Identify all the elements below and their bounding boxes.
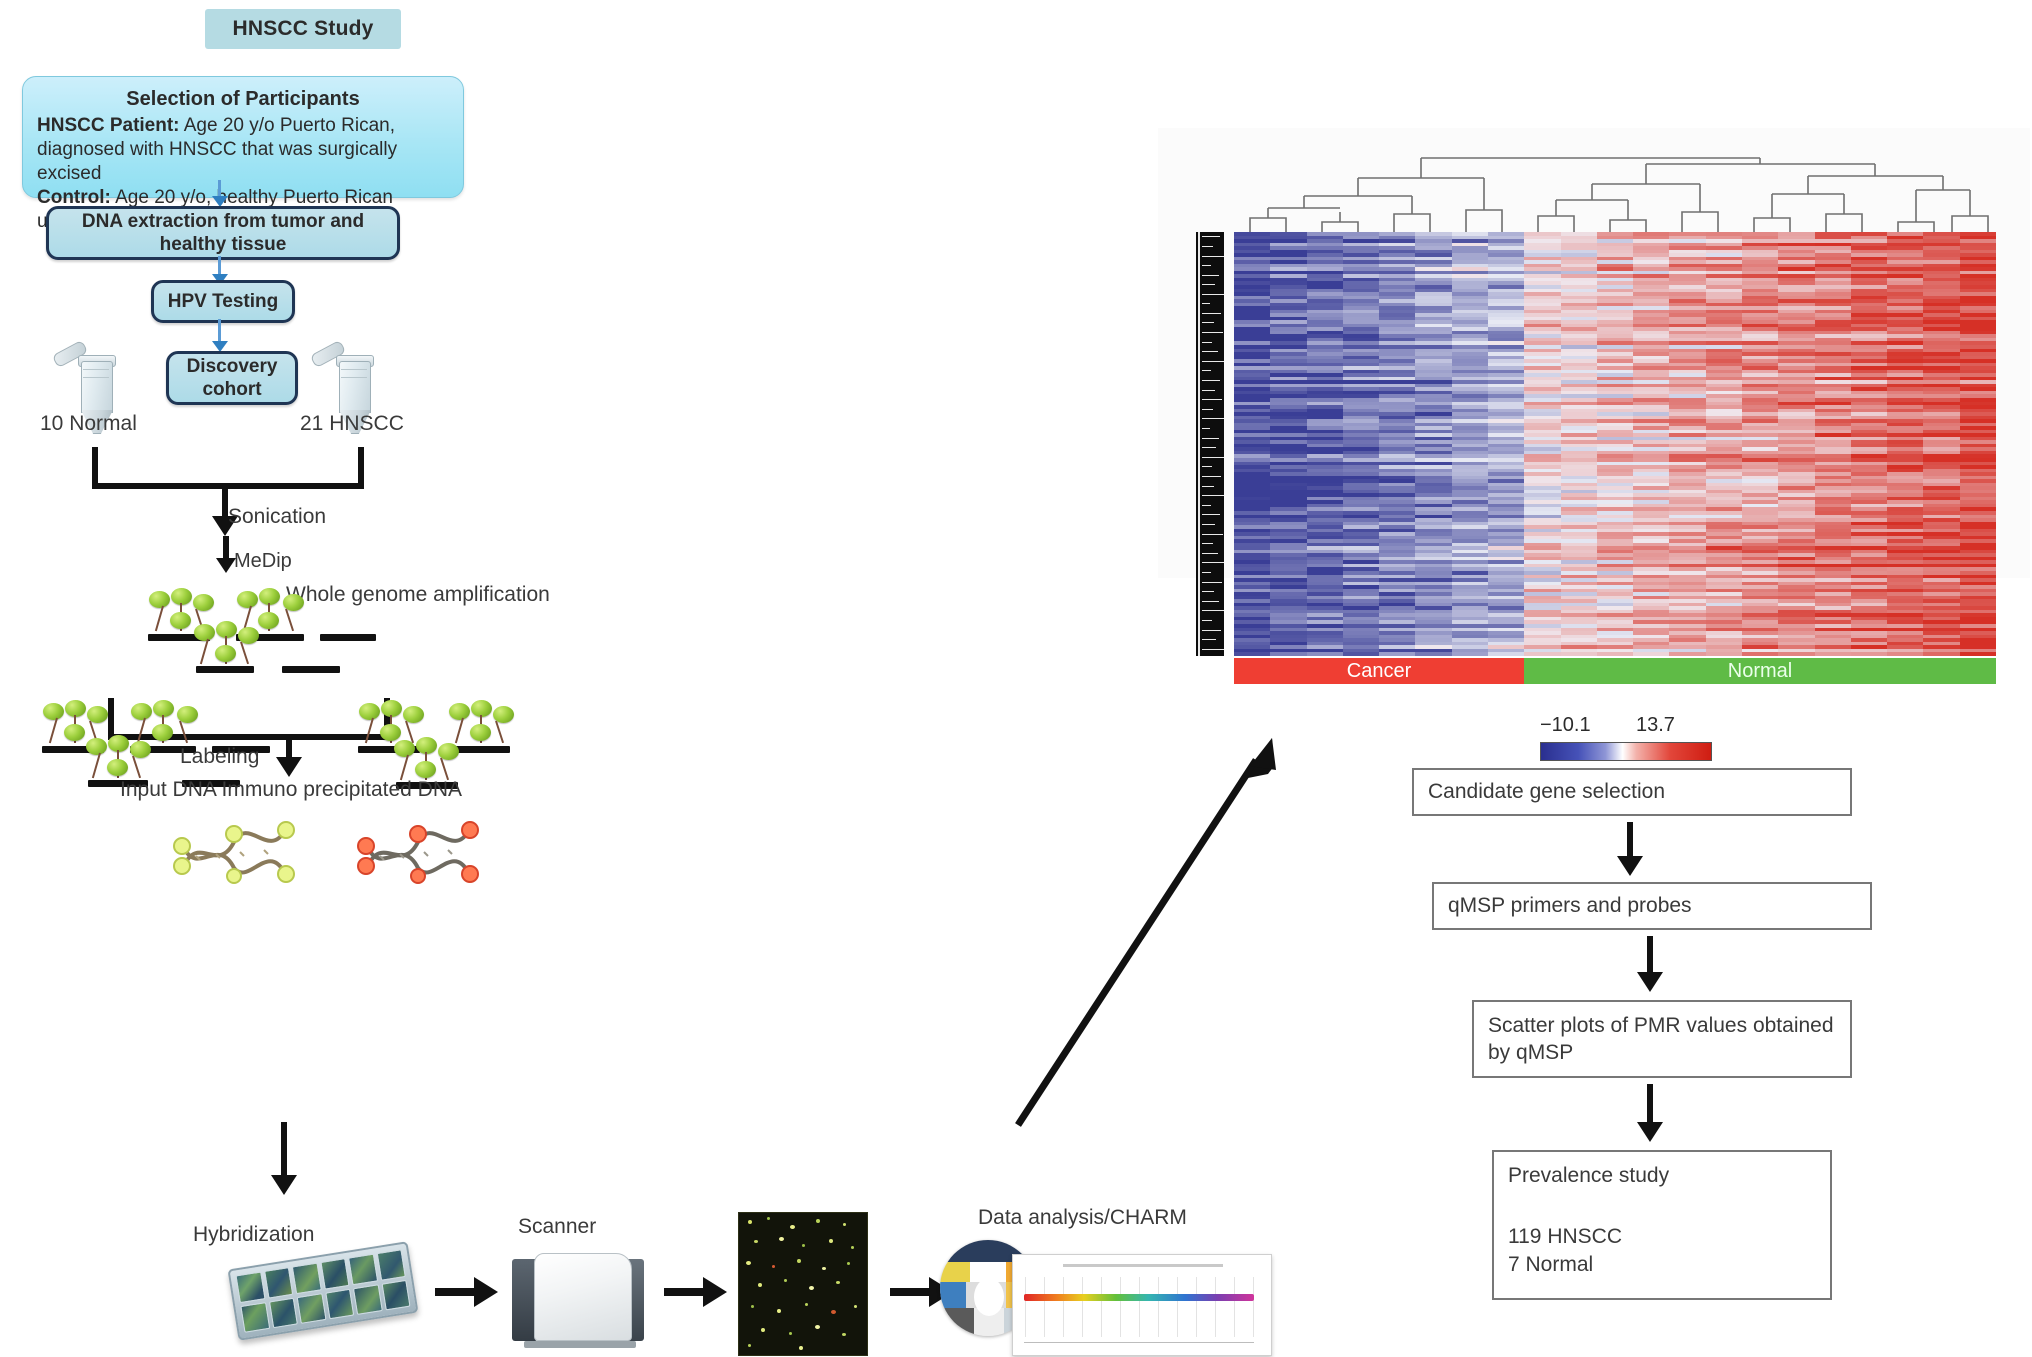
heatmap-column (1923, 232, 1959, 656)
step-hpv-testing: HPV Testing (151, 280, 295, 323)
column-dendrogram (1240, 134, 2000, 234)
heatmap-column (1960, 232, 1996, 656)
group-bar-normal-label: Normal (1728, 660, 1792, 683)
methylated-dna-cluster-top (140, 588, 440, 668)
microarray-image (738, 1212, 868, 1356)
group-bar-cancer: Cancer (1234, 658, 1524, 684)
heatmap-column (1561, 232, 1597, 656)
scale-max-label: 13.7 (1636, 714, 1675, 737)
input-dna-label: Input DNA Immuno precipitated DNA (120, 778, 462, 802)
heatmap-column (1452, 232, 1488, 656)
heatmap-column (1415, 232, 1451, 656)
hybridization-label: Hybridization (193, 1223, 314, 1247)
arrow-to-heatmap (1000, 720, 1340, 1140)
arrow-qmsp-to-scatter-head (1637, 972, 1663, 992)
box-candidate-gene-selection: Candidate gene selection (1412, 768, 1852, 816)
group-bar-cancer-label: Cancer (1347, 660, 1411, 683)
scale-min-label: −10.1 (1540, 714, 1591, 737)
selection-line-1-bold: HNSCC Patient: (37, 115, 180, 136)
arrow-array-to-charm-shaft (890, 1288, 932, 1296)
arrow-scatter-to-prevalence-head (1637, 1122, 1663, 1142)
arrow-scanner-to-array-head (703, 1277, 727, 1307)
box-scatter-plots: Scatter plots of PMR values obtained by … (1472, 1000, 1852, 1078)
heatmap-column (1379, 232, 1415, 656)
prevalence-study-line-1: 119 HNSCC (1508, 1223, 1816, 1250)
heatmap-matrix (1234, 232, 1996, 656)
selection-line-3-bold: Control: (37, 187, 111, 208)
heatmap-column (1887, 232, 1923, 656)
step-discovery-cohort: Discovery cohort (166, 351, 298, 405)
heatmap-column (1234, 232, 1270, 656)
heatmap-column (1851, 232, 1887, 656)
selection-line-3-rest: Age 20 y/o, healthy Puerto Rican (115, 187, 393, 208)
hybridization-chip-icon (227, 1241, 418, 1341)
box-qmsp-primers: qMSP primers and probes (1432, 882, 1872, 930)
arrow-candidate-to-qmsp-head (1617, 856, 1643, 876)
charm-rainbow-trace (1024, 1294, 1254, 1301)
selection-of-participants-box: Selection of Participants HNSCC Patient:… (22, 76, 464, 198)
heatmap-column (1815, 232, 1851, 656)
box-candidate-gene-selection-label: Candidate gene selection (1428, 778, 1665, 805)
heatmap-column (1597, 232, 1633, 656)
tube-normal-label: 10 Normal (40, 412, 137, 436)
scanner-label: Scanner (518, 1215, 596, 1239)
step-hpv-testing-label: HPV Testing (168, 290, 279, 313)
heatmap-column (1488, 232, 1524, 656)
heatmap-column (1706, 232, 1742, 656)
heatmap-column (1778, 232, 1814, 656)
data-analysis-label: Data analysis/CHARM (978, 1206, 1187, 1230)
prevalence-study-title: Prevalence study (1508, 1162, 1816, 1189)
hybridization-arrow-head (271, 1175, 297, 1195)
heatmap-column (1307, 232, 1343, 656)
step-dna-extraction-label: DNA extraction from tumor and healthy ti… (49, 210, 397, 256)
arrow-chip-to-scanner-shaft (435, 1288, 477, 1296)
heatmap-column (1270, 232, 1306, 656)
arrow-chip-to-scanner-head (474, 1277, 498, 1307)
step-dna-extraction: DNA extraction from tumor and healthy ti… (46, 206, 400, 260)
box-qmsp-primers-label: qMSP primers and probes (1448, 892, 1692, 919)
box-prevalence-study: Prevalence study 119 HNSCC 7 Normal (1492, 1150, 1832, 1300)
page-title: HNSCC Study (205, 9, 401, 49)
heatmap-column (1669, 232, 1705, 656)
labeled-dna-green-icon (168, 816, 298, 886)
heatmap-color-scale (1540, 742, 1712, 761)
heatmap-column (1742, 232, 1778, 656)
tube-hnscc-label: 21 HNSCC (300, 412, 404, 436)
sonication-label: Sonication (228, 505, 326, 529)
bracket-crossbar (92, 483, 364, 489)
selection-line-2: diagnosed with HNSCC that was surgically… (37, 138, 449, 186)
scanner-icon (512, 1245, 652, 1351)
labeling-label: Labeling (180, 745, 259, 769)
medip-arrow-head (216, 558, 236, 573)
heatmap-column (1633, 232, 1669, 656)
selection-line-1: HNSCC Patient: Age 20 y/o Puerto Rican, (37, 114, 449, 138)
charm-report-sheet (1012, 1254, 1272, 1356)
row-dendrogram (1196, 232, 1224, 656)
heatmap-column (1524, 232, 1560, 656)
selection-line-1-rest: Age 20 y/o Puerto Rican, (184, 115, 395, 136)
prevalence-study-line-2: 7 Normal (1508, 1251, 1816, 1278)
arrow-scanner-to-array-shaft (664, 1288, 706, 1296)
heatmap-column (1343, 232, 1379, 656)
step-discovery-cohort-label: Discovery cohort (169, 355, 295, 401)
selection-header: Selection of Participants (37, 87, 449, 112)
charm-analysis-icon (940, 1232, 1280, 1357)
group-bar-normal: Normal (1524, 658, 1996, 684)
hybridization-arrow-shaft (281, 1122, 287, 1180)
box-scatter-plots-label: Scatter plots of PMR values obtained by … (1488, 1014, 1834, 1064)
labeled-dna-red-icon (352, 816, 482, 886)
medip-label: MeDip (234, 550, 292, 573)
